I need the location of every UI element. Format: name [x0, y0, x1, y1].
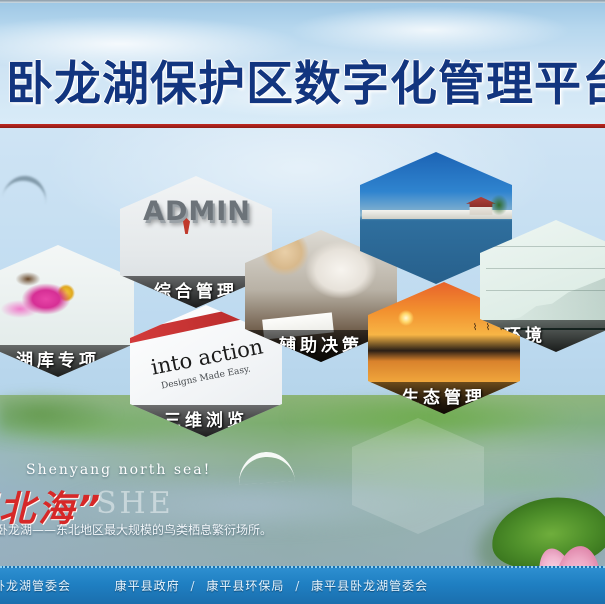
footer-link-government[interactable]: 康平县政府 — [115, 579, 180, 593]
tree-icon — [488, 192, 510, 218]
footer-separator: / — [295, 579, 300, 593]
footer-content: 康平县卧龙湖管委会 康平县政府 / 康平县环保局 / 康平县卧龙湖管委会 — [0, 577, 428, 594]
footer-owner: 康平县卧龙湖管委会 — [0, 579, 71, 593]
photo-caption-chinese: 卧龙湖——东北地区最大规模的鸟类栖息繁衍场所。 — [0, 521, 272, 538]
page-root: 卧龙湖保护区数字化管理平台 湖库专项 ADMIN 综合管理 into actio… — [0, 0, 605, 604]
admin-word: ADMIN — [126, 196, 268, 227]
photo-caption-ghost-text: SHE — [96, 486, 174, 521]
footer-bar: 康平县卧龙湖管委会 康平县政府 / 康平县环保局 / 康平县卧龙湖管委会 — [0, 566, 605, 604]
footer-link-committee[interactable]: 康平县卧龙湖管委会 — [311, 579, 428, 593]
photo-caption-english: Shenyang north sea! — [26, 462, 211, 478]
page-title: 卧龙湖保护区数字化管理平台 — [0, 54, 605, 116]
footer-separator: / — [191, 579, 196, 593]
footer-link-epb[interactable]: 康平县环保局 — [206, 579, 284, 593]
